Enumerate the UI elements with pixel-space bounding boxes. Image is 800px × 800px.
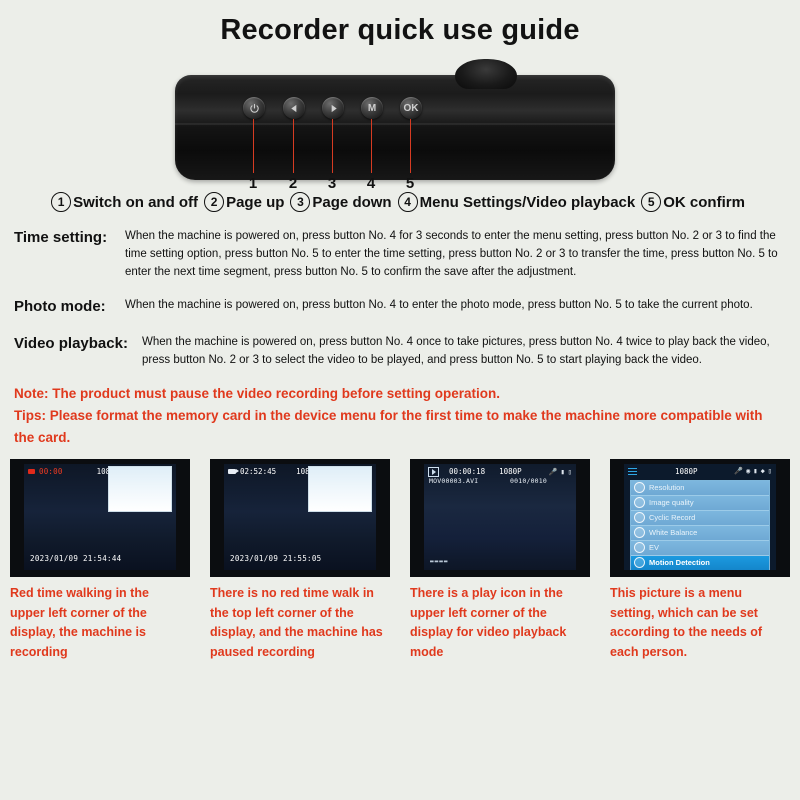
legend-badge-4: 4 [398,192,418,212]
record-time: 02:52:45 [240,467,276,476]
microphone-icon: 🎤 [734,467,743,475]
resolution-label: 1080P [675,467,698,476]
pip-preview [308,466,372,512]
callout-number-5: 5 [403,175,417,192]
callout-line-5 [410,119,411,173]
menu-item-cyclic-record[interactable]: Cyclic Record [631,511,769,526]
legend-item-3: 3 Page down [290,192,391,212]
legend-badge-3: 3 [290,192,310,212]
lock-icon: ▯ [768,467,772,475]
callout-number-3: 3 [325,175,339,192]
photo-paused: 02:52:45 1080P 2023/01/09 21:55:05 [210,459,390,577]
lcd-recording: 00:00 1080P 2023/01/09 21:54:44 [24,464,176,570]
menu-item-label: EV [649,543,659,552]
right-arrow-icon[interactable] [322,97,344,119]
button-legend: 1 Switch on and off 2 Page up 3 Page dow… [0,192,800,212]
sdcard-icon: ▯ [568,468,572,476]
instruction-time-setting: Time setting: When the machine is powere… [14,228,786,281]
legend-item-2: 2 Page up [204,192,284,212]
ev-icon [634,542,645,553]
screen-example-paused: 02:52:45 1080P 2023/01/09 21:55:05 There… [210,459,390,663]
menu-hamburger-icon[interactable] [628,468,637,476]
instruction-body-photo-mode: When the machine is powered on, press bu… [125,297,753,315]
note-text: Note: The product must pause the video r… [14,383,786,405]
menu-item-motion-detection[interactable]: Motion Detection [631,556,769,570]
instruction-video-playback: Video playback: When the machine is powe… [14,334,786,370]
record-time: 00:00 [39,467,63,476]
settings-menu-list: Resolution Image quality Cyclic Record W… [630,480,770,570]
menu-item-resolution[interactable]: Resolution [631,481,769,496]
legend-label-3: Page down [312,194,391,211]
device-seam [175,123,615,125]
resolution-label: 1080P [499,467,522,476]
bottom-status-icons: ▬▬▬▬ [430,558,448,565]
motion-detection-icon [634,557,645,568]
play-icon [428,467,439,477]
power-icon[interactable] [243,97,265,119]
image-quality-icon [634,497,645,508]
callout-line-4 [371,119,372,173]
timestamp-overlay: 2023/01/09 21:55:05 [230,554,322,563]
screen-example-menu: 1080P 🎤 ◉ ▮ ◆ ▯ Resolution [610,459,790,663]
photo-menu: 1080P 🎤 ◉ ▮ ◆ ▯ Resolution [610,459,790,577]
caption-menu: This picture is a menu setting, which ca… [610,584,790,663]
left-arrow-icon[interactable] [283,97,305,119]
white-balance-icon [634,527,645,538]
legend-item-1: 1 Switch on and off [51,192,198,212]
instruction-label-video-playback: Video playback: [14,334,136,354]
instruction-photo-mode: Photo mode: When the machine is powered … [14,297,786,317]
notes-section: Note: The product must pause the video r… [0,383,800,449]
menu-item-label: Motion Detection [649,558,710,567]
legend-item-5: 5 OK confirm [641,192,745,212]
instruction-body-video-playback: When the machine is powered on, press bu… [142,334,786,370]
menu-item-label: Cyclic Record [649,513,695,522]
ok-icon[interactable]: OK [400,97,422,119]
screen-example-playback: 00:00:18 1080P 🎤 ▮ ▯ MOV00003.AVI 0010/0… [410,459,590,663]
callout-line-3 [332,119,333,173]
record-dot-icon [28,469,35,474]
photo-playback: 00:00:18 1080P 🎤 ▮ ▯ MOV00003.AVI 0010/0… [410,459,590,577]
callout-line-2 [293,119,294,173]
menu-item-label: White Balance [649,528,697,537]
filename-overlay: MOV00003.AVI [429,477,478,485]
callout-number-1: 1 [246,175,260,192]
device-illustration: M OK 1 2 3 4 5 [0,53,800,188]
battery-icon: ▮ [753,467,757,475]
instructions-section: Time setting: When the machine is powere… [0,228,800,369]
pip-preview [108,466,172,512]
screen-examples: 00:00 1080P 2023/01/09 21:54:44 Red time… [0,459,800,663]
battery-icon: ▮ [561,468,565,476]
caption-recording: Red time walking in the upper left corne… [10,584,190,663]
legend-label-2: Page up [226,194,284,211]
menu-item-ev[interactable]: EV [631,541,769,556]
photo-recording: 00:00 1080P 2023/01/09 21:54:44 [10,459,190,577]
legend-badge-1: 1 [51,192,71,212]
screen-example-recording: 00:00 1080P 2023/01/09 21:54:44 Red time… [10,459,190,663]
instruction-label-photo-mode: Photo mode: [14,297,119,317]
osd-top-menu: 1080P 🎤 ◉ ▮ ◆ ▯ [628,467,772,476]
lcd-playback: 00:00:18 1080P 🎤 ▮ ▯ MOV00003.AVI 0010/0… [424,464,576,570]
play-time: 00:00:18 [449,467,485,476]
callout-number-4: 4 [364,175,378,192]
microphone-icon: 🎤 [549,468,558,476]
menu-item-white-balance[interactable]: White Balance [631,526,769,541]
sdcard-icon: ◆ [761,467,765,475]
menu-item-label: Image quality [649,498,694,507]
tips-text: Tips: Please format the memory card in t… [14,405,786,449]
callout-line-1 [253,119,254,173]
cyclic-record-icon [634,512,645,523]
callout-number-2: 2 [286,175,300,192]
caption-paused: There is no red time walk in the top lef… [210,584,390,663]
legend-label-1: Switch on and off [73,194,198,211]
caption-playback: There is a play icon in the upper left c… [410,584,590,663]
menu-item-image-quality[interactable]: Image quality [631,496,769,511]
recorder-body [175,75,615,180]
legend-label-4: Menu Settings/Video playback [420,194,636,211]
clock-icon: ◉ [746,467,750,475]
status-icons: 🎤 ▮ ▯ [549,468,572,476]
status-icons: 🎤 ◉ ▮ ◆ ▯ [734,467,772,475]
menu-m-icon[interactable]: M [361,97,383,119]
legend-badge-5: 5 [641,192,661,212]
menu-item-label: Resolution [649,483,684,492]
page-title: Recorder quick use guide [0,0,800,47]
camera-lens [455,59,517,89]
resolution-icon [634,482,645,493]
lcd-menu: 1080P 🎤 ◉ ▮ ◆ ▯ Resolution [624,464,776,570]
timestamp-overlay: 2023/01/09 21:54:44 [30,554,122,563]
instruction-body-time-setting: When the machine is powered on, press bu… [125,228,786,281]
camcorder-icon [228,469,236,474]
file-counter-overlay: 0010/0010 [510,477,547,485]
osd-top-playback: 00:00:18 1080P 🎤 ▮ ▯ [428,467,572,477]
legend-badge-2: 2 [204,192,224,212]
lcd-paused: 02:52:45 1080P 2023/01/09 21:55:05 [224,464,376,570]
legend-item-4: 4 Menu Settings/Video playback [398,192,636,212]
instruction-label-time-setting: Time setting: [14,228,119,248]
legend-label-5: OK confirm [663,194,745,211]
